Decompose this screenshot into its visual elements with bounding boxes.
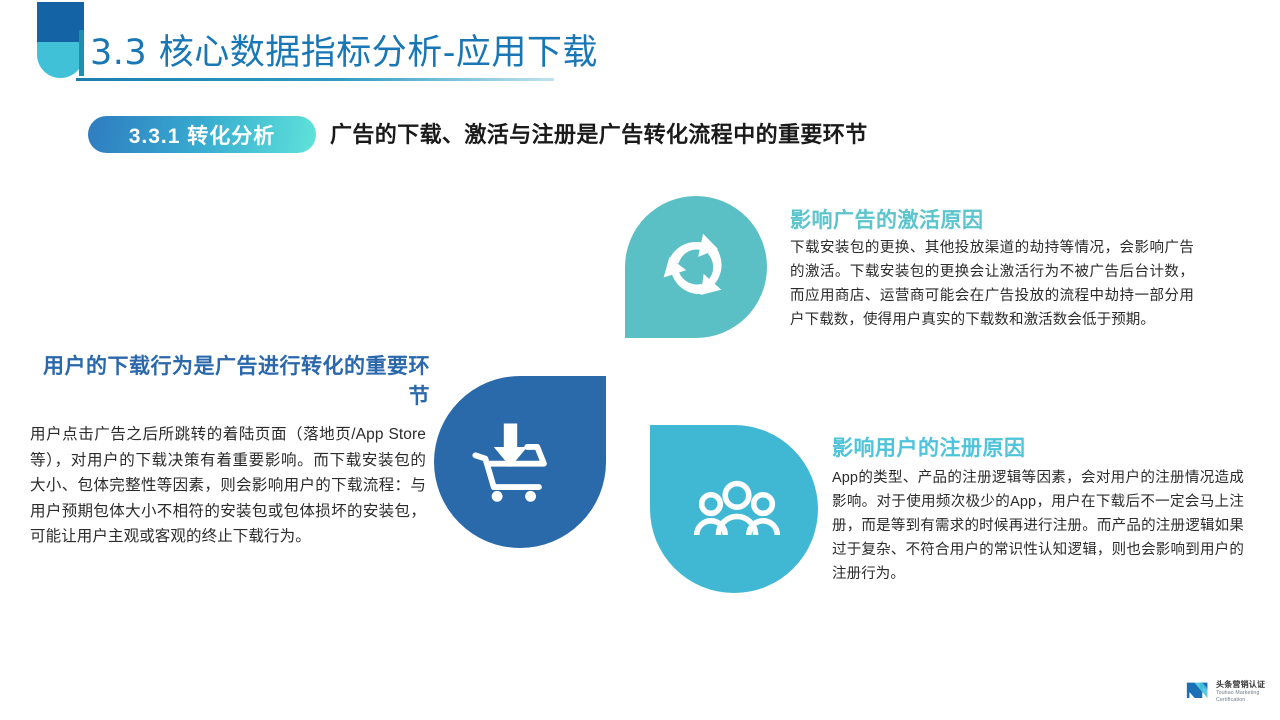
left-body-text: 用户点击广告之后所跳转的着陆页面（落地页/App Store等），对用户的下载决…: [30, 422, 426, 550]
register-heading: 影响用户的注册原因: [832, 432, 1026, 462]
brand-logo: 头条营销认证 Toutiao Marketing Certification: [1185, 680, 1265, 704]
title-underline: [76, 78, 554, 81]
header-decoration: [37, 2, 84, 78]
refresh-cycle-icon: [625, 196, 767, 338]
logo-mark-icon: [1185, 680, 1211, 704]
section-badge: 3.3.1 转化分析: [88, 116, 316, 153]
decoration-block-bottom: [37, 42, 84, 78]
logo-name-en-2: Certification: [1216, 698, 1265, 703]
download-cart-icon: [434, 376, 606, 548]
activation-body-text: 下载安装包的更换、其他投放渠道的劫持等情况，会影响广告的激活。下载安装包的更换会…: [790, 236, 1194, 332]
title-accent-bar: [79, 30, 84, 76]
logo-text: 头条营销认证 Toutiao Marketing Certification: [1216, 681, 1265, 703]
slide-canvas: 3.3 核心数据指标分析-应用下载 3.3.1 转化分析 广告的下载、激活与注册…: [0, 0, 1280, 720]
users-group-icon: [650, 425, 818, 593]
logo-name-en-1: Toutiao Marketing: [1216, 691, 1265, 696]
section-headline: 广告的下载、激活与注册是广告转化流程中的重要环节: [330, 118, 868, 152]
register-body-text: App的类型、产品的注册逻辑等因素，会对用户的注册情况造成影响。对于使用频次极少…: [832, 466, 1244, 586]
page-title: 3.3 核心数据指标分析-应用下载: [90, 28, 598, 78]
decoration-block-top: [37, 2, 84, 42]
left-heading: 用户的下载行为是广告进行转化的重要环节: [30, 352, 430, 412]
activation-heading: 影响广告的激活原因: [790, 204, 984, 234]
logo-name-cn: 头条营销认证: [1216, 681, 1265, 689]
